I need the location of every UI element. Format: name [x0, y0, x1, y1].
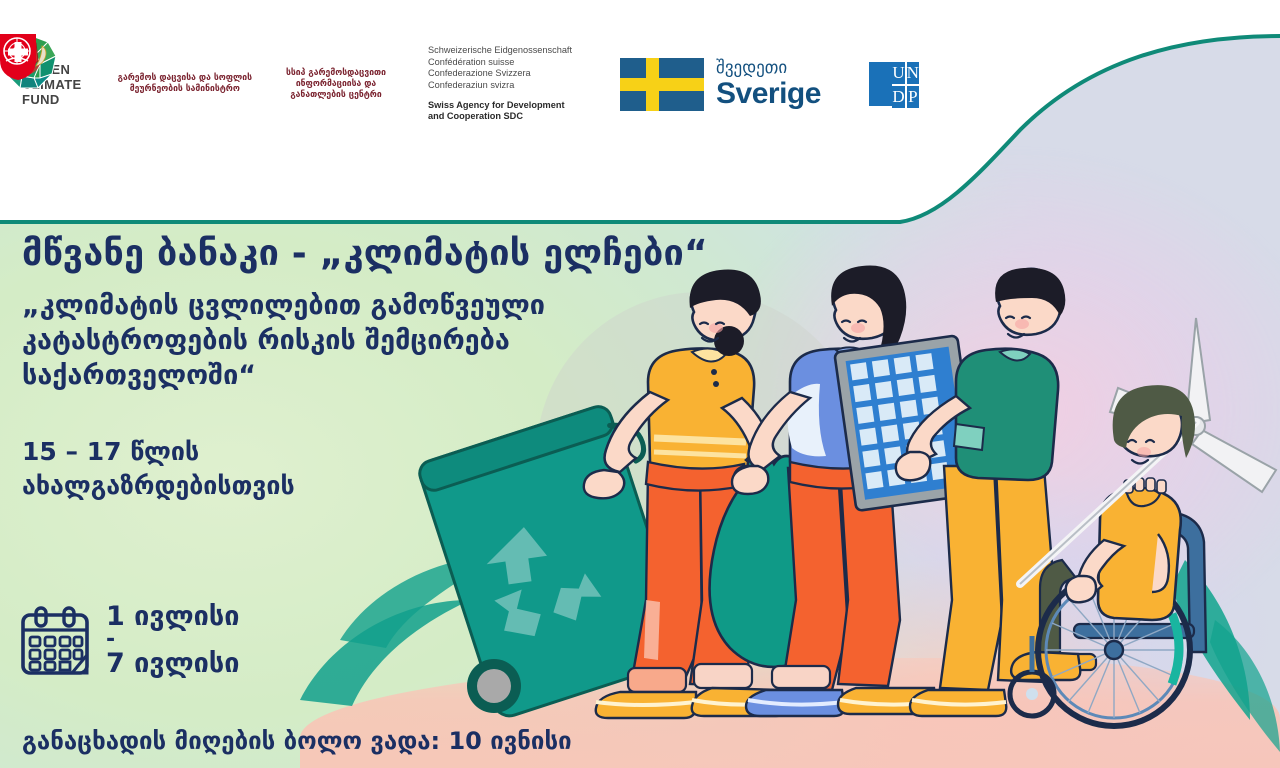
subtitle-line-1: „კლიმატის ცვლილებით გამოწვეული: [22, 288, 722, 323]
logo-ministry-of-environment: გარემოს დაცვისა და სოფლის მეურნეობის სამ…: [118, 73, 252, 95]
sweden-wordmark: შვედეთი Sverige: [716, 59, 821, 110]
copy-block: მწვანე ბანაკი - „კლიმატის ელჩები“ „კლიმა…: [22, 232, 722, 503]
age-line-2: ახალგაზრდებისთვის: [22, 469, 722, 503]
sweden-flag-icon: [620, 58, 704, 111]
application-deadline: განაცხადის მიღების ბოლო ვადა: 10 ივნისი: [22, 727, 572, 755]
page-title: მწვანე ბანაკი - „კლიმატის ელჩები“: [22, 232, 722, 276]
logo-swiss-confederation: Schweizerische Eidgenossenschaft Confédé…: [428, 45, 572, 123]
date-end: 7 ივლისი: [106, 647, 239, 680]
swiss-wordmark: Schweizerische Eidgenossenschaft Confédé…: [428, 45, 572, 123]
eiec-caption: სსიპ გარემოსდაცვითი ინფორმაციისა და განა…: [286, 68, 386, 101]
subtitle-line-3: საქართველოში“: [22, 358, 722, 393]
logo-sweden: შვედეთი Sverige: [620, 58, 821, 111]
age-requirement: 15 – 17 წლის ახალგაზრდებისთვის: [22, 435, 722, 503]
page-subtitle: „კლიმატის ცვლილებით გამოწვეული კატასტროფ…: [22, 288, 722, 393]
ministry-caption: გარემოს დაცვისა და სოფლის მეურნეობის სამ…: [118, 73, 252, 95]
poster-root: GREEN CLIMATE FUND გარემოს დაცვისა და სო…: [0, 0, 1280, 768]
header: GREEN CLIMATE FUND გარემოს დაცვისა და სო…: [0, 0, 1280, 240]
subtitle-line-2: კატასტროფების რისკის შემცირება: [22, 323, 722, 358]
age-line-1: 15 – 17 წლის: [22, 435, 722, 469]
date-start: 1 ივლისი: [106, 600, 239, 633]
logo-row: GREEN CLIMATE FUND გარემოს დაცვისა და სო…: [0, 34, 1060, 134]
calendar-icon: [18, 603, 92, 677]
un-emblem-icon: [869, 62, 892, 106]
logo-undp: U N D P: [869, 60, 919, 108]
undp-letters: U N D P: [892, 62, 919, 108]
date-dash: -: [106, 633, 239, 647]
camp-dates: 1 ივლისი - 7 ივლისი: [106, 600, 239, 680]
date-row: 1 ივლისი - 7 ივლისი: [18, 600, 239, 680]
logo-environmental-info-centre: სსიპ გარემოსდაცვითი ინფორმაციისა და განა…: [286, 68, 386, 101]
